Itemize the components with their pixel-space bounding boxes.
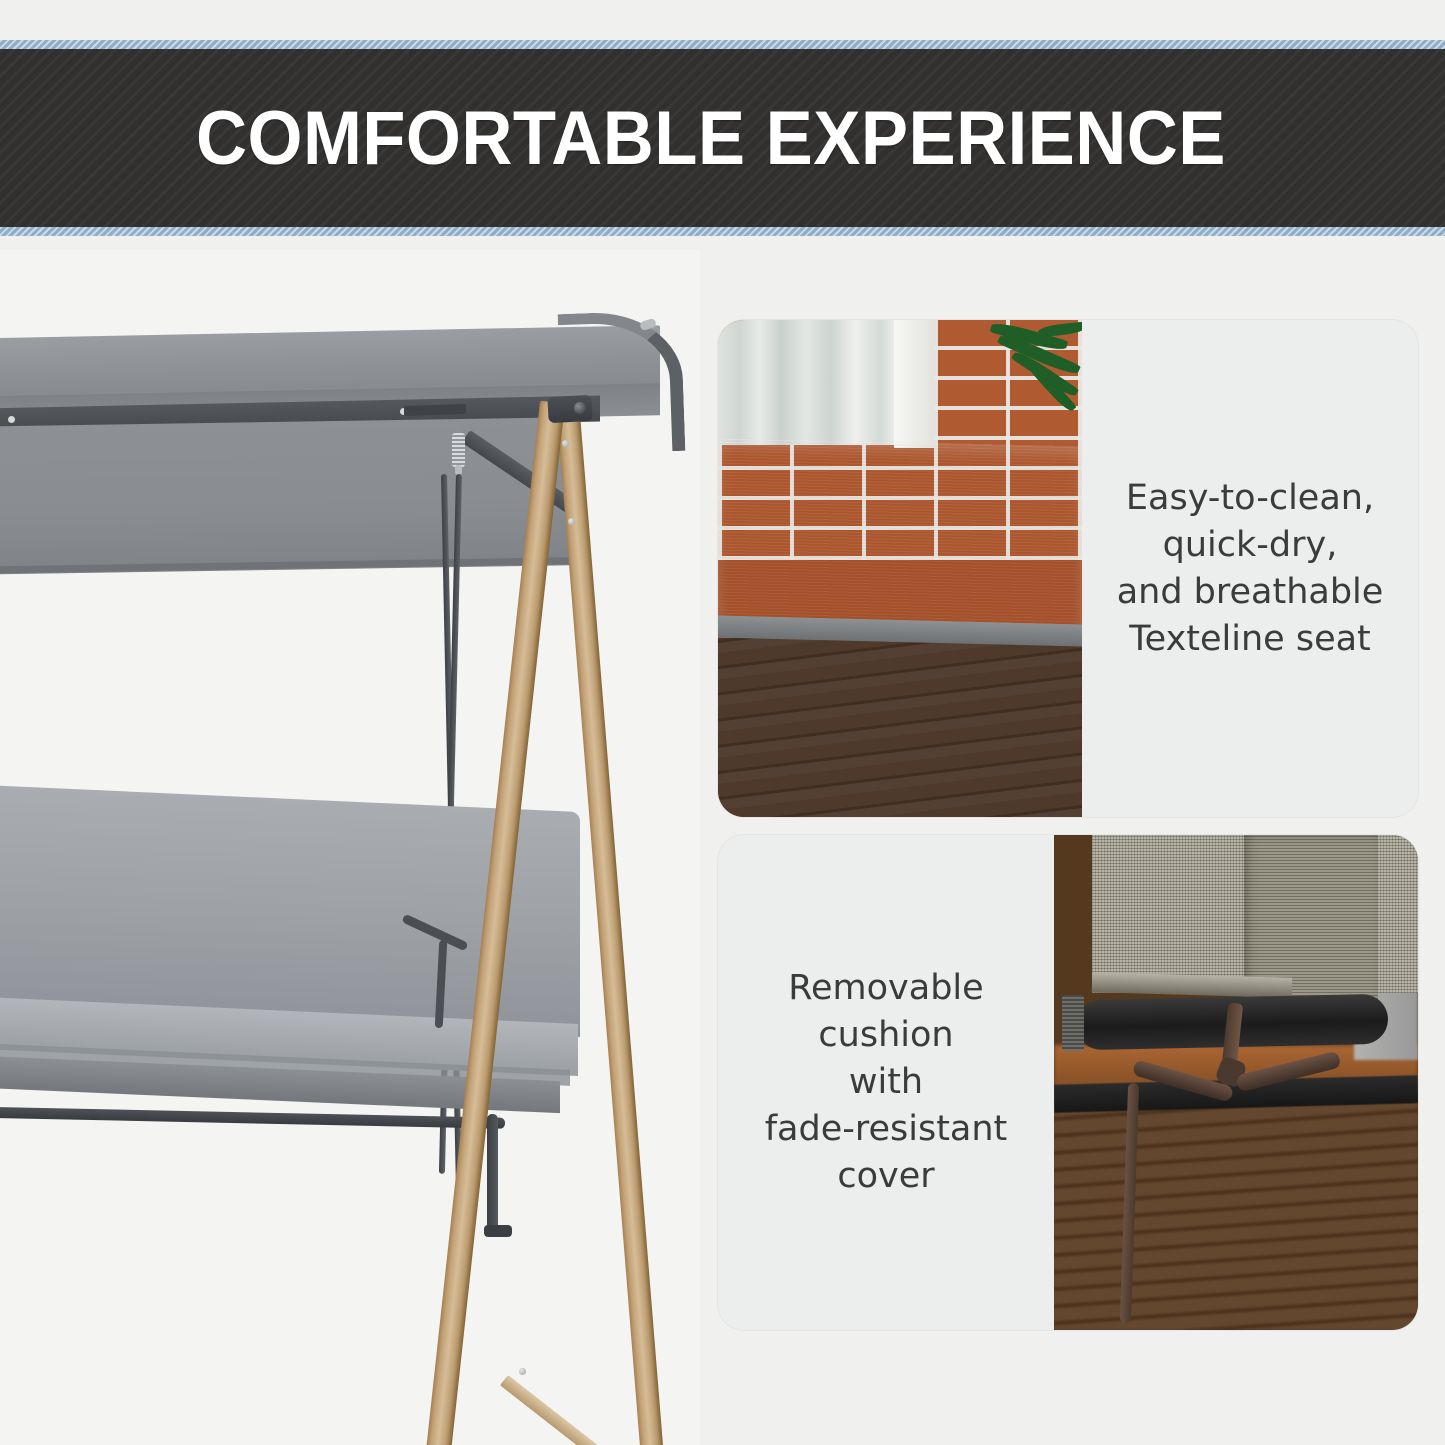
wooden-deck: [718, 638, 1082, 817]
swing-illustration: [0, 250, 700, 1445]
feature-card-texteline-seat: Easy-to-clean, quick-dry, and breathable…: [718, 320, 1418, 817]
lower-frame-elbow-foot: [484, 1225, 512, 1237]
texteline-mesh-fabric: [718, 438, 1082, 647]
banner-bar: COMFORTABLE EXPERIENCE: [0, 49, 1445, 227]
feature-card-removable-cushion: Removable cushion with fade-resistant co…: [718, 835, 1418, 1330]
feature-text-container-1: Easy-to-clean, quick-dry, and breathable…: [1082, 320, 1418, 817]
leg-hinge-bolt: [574, 402, 586, 414]
rail-screw-left: [8, 416, 15, 423]
palm-plant: [986, 322, 1082, 432]
leg-cross-strut: [500, 1375, 658, 1445]
leg-screw-upper: [562, 440, 569, 447]
infographic-canvas: COMFORTABLE EXPERIENCE: [0, 0, 1445, 1445]
feature-text-container-2: Removable cushion with fade-resistant co…: [718, 835, 1054, 1330]
banner-bottom-stripe: [0, 227, 1445, 236]
banner-top-stripe: [0, 40, 1445, 49]
feature-photo-texteline: [718, 320, 1082, 817]
feature-photo-cushion: [1054, 835, 1418, 1330]
window-frame: [894, 320, 934, 448]
wooden-deck: [1054, 1085, 1418, 1330]
leg-screw-mid: [568, 518, 575, 525]
window-curtain: [718, 320, 894, 445]
hero-product-photo: [0, 250, 700, 1445]
page-title: COMFORTABLE EXPERIENCE: [196, 95, 1226, 182]
lower-frame-rail: [0, 1106, 505, 1128]
canopy-valance: [0, 417, 580, 575]
feature-description-cushion: Removable cushion with fade-resistant co…: [765, 965, 1008, 1200]
leg-screw-lower: [519, 1368, 526, 1375]
header-banner: COMFORTABLE EXPERIENCE: [0, 40, 1445, 236]
suspension-spring: [452, 433, 465, 467]
velcro-strip: [1062, 995, 1084, 1051]
feature-description-texteline: Easy-to-clean, quick-dry, and breathable…: [1117, 475, 1384, 663]
lower-frame-elbow: [487, 1114, 498, 1236]
